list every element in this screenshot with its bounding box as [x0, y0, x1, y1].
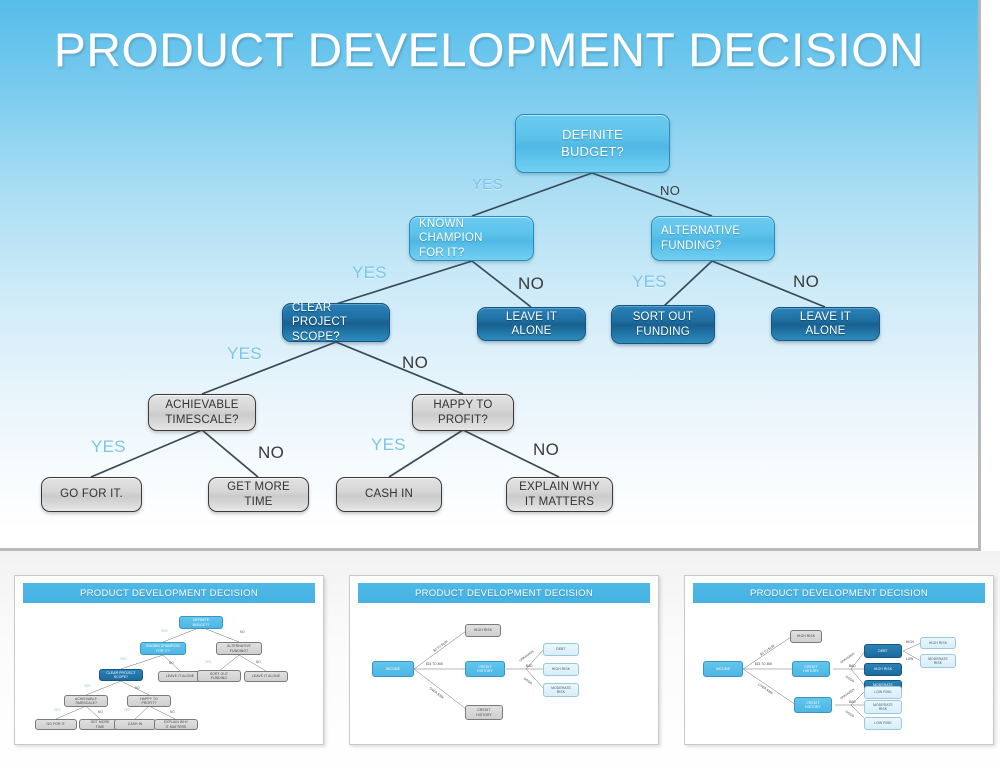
thumbnail-title: PRODUCT DEVELOPMENT DECISION	[750, 588, 928, 599]
thumbnail-strip: PRODUCT DEVELOPMENT DECISION DEFINITE BU…	[0, 551, 1000, 778]
thumbnail-title-bar: PRODUCT DEVELOPMENT DECISION	[23, 583, 315, 603]
thumbnail-slide-1[interactable]: PRODUCT DEVELOPMENT DECISION DEFINITE BU…	[14, 575, 324, 745]
branch-label-root-no: NO	[660, 183, 680, 198]
branch-label-scope-yes: YES	[227, 344, 262, 364]
thumb3-edge-bad-bottom: BAD	[849, 700, 856, 704]
thumb1-node-go-for-it: GO FOR IT.	[35, 719, 77, 730]
thumb1-label-yes-scope: YES	[84, 684, 90, 688]
node-label: ALTERNATIVE FUNDING?	[661, 224, 765, 253]
thumb3-node-debt: DEBT	[864, 644, 902, 658]
thumb3-node-credit-history-mid: CREDIT HISTORY	[792, 661, 830, 677]
thumbnail-title: PRODUCT DEVELOPMENT DECISION	[415, 588, 593, 599]
branch-label-root-yes: YES	[472, 176, 503, 193]
thumb1-node-definite-budget: DEFINITE BUDGET?	[179, 616, 223, 629]
thumb1-label-no-root: NO	[240, 630, 245, 634]
thumb1-node-known-champion: KNOWN CHAMPION FOR IT?	[140, 642, 186, 655]
thumb1-label-no-scope: NO	[135, 686, 140, 690]
thumb3-node-high-risk-far: HIGH RISK	[920, 637, 956, 649]
thumb3-node-high-risk-mid: HIGH RISK	[864, 663, 902, 676]
node-label: GO FOR IT.	[49, 487, 134, 501]
node-leave-it-alone-1[interactable]: LEAVE IT ALONE	[477, 307, 586, 341]
thumb1-label-yes-profit: YES	[124, 708, 130, 712]
node-known-champion[interactable]: KNOWN CHAMPION FOR IT?	[409, 216, 534, 261]
thumb2-node-debt: DEBT	[543, 643, 579, 656]
thumb1-node-cash-in: CASH IN	[114, 719, 156, 730]
node-leave-it-alone-2[interactable]: LEAVE IT ALONE	[771, 307, 880, 341]
thumbnail-slide-2[interactable]: PRODUCT DEVELOPMENT DECISION INCOME HIGH…	[349, 575, 659, 745]
node-achievable-timescale[interactable]: ACHIEVABLE TIMESCALE?	[148, 394, 256, 431]
thumb1-node-clear-project-scope: CLEAR PROJECT SCOPE?	[99, 669, 143, 681]
thumb1-label-yes-champion: YES	[120, 657, 126, 661]
branch-label-scope-no: NO	[402, 353, 428, 373]
branch-label-funding-no: NO	[793, 272, 819, 292]
node-label: DEFINITE BUDGET?	[525, 127, 660, 160]
thumb1-label-no-funding: NO	[256, 660, 261, 664]
thumb1-label-no-timescale: NO	[98, 710, 103, 714]
thumb1-node-leave-it-alone-2: LEAVE IT ALONE	[244, 671, 288, 682]
node-cash-in[interactable]: CASH IN	[336, 477, 442, 512]
node-label: SORT OUT FUNDING	[621, 310, 705, 339]
thumb1-node-happy-to-profit: HAPPY TO PROFIT?	[127, 695, 171, 707]
node-label: GET MORE TIME	[216, 480, 301, 509]
thumb1-node-alternative-funding: ALTERNATIVE FUNDING?	[216, 642, 262, 655]
thumb3-edge-bad-mid: BAD	[849, 664, 856, 668]
thumb2-node-income: INCOME	[372, 661, 414, 677]
thumbnail-canvas: INCOME HIGH RISK CREDIT HISTORY CREDIT H…	[693, 607, 985, 733]
thumb2-edge-bad: BAD	[526, 664, 533, 668]
thumbnail-title-bar: PRODUCT DEVELOPMENT DECISION	[358, 583, 650, 603]
thumb2-node-high-risk-top: HIGH RISK	[465, 624, 501, 637]
thumbnail-canvas: INCOME HIGH RISK CREDIT HISTORY CREDIT H…	[358, 607, 650, 733]
main-slide: PRODUCT DEVELOPMENT DECISION DEFINITE BU…	[0, 0, 981, 551]
thumb3-edge-low: LOW	[906, 657, 913, 661]
node-label: LEAVE IT ALONE	[781, 310, 870, 339]
thumb1-node-explain-why: EXPLAIN WHY IT MATTERS	[154, 719, 198, 730]
node-sort-out-funding[interactable]: SORT OUT FUNDING	[611, 305, 715, 344]
thumb3-edge-high: HIGH	[906, 640, 914, 644]
node-label: EXPLAIN WHY IT MATTERS	[514, 480, 605, 509]
branch-label-champion-no: NO	[518, 274, 544, 294]
thumb1-label-no-profit: NO	[170, 710, 175, 714]
thumb1-node-leave-it-alone-1: LEAVE IT ALONE	[158, 671, 202, 682]
node-clear-project-scope[interactable]: CLEAR PROJECT SCOPE?	[282, 303, 390, 342]
node-label: KNOWN CHAMPION FOR IT?	[419, 217, 524, 260]
thumb2-node-credit-history-mid: CREDIT HISTORY	[465, 661, 505, 677]
thumb1-label-yes-root: YES	[161, 629, 167, 633]
node-label: HAPPY TO PROFIT?	[420, 398, 506, 427]
node-get-more-time[interactable]: GET MORE TIME	[208, 477, 309, 512]
thumbnail-title: PRODUCT DEVELOPMENT DECISION	[80, 588, 258, 599]
thumb2-node-credit-history-bottom: CREDIT HISTORY	[465, 705, 503, 720]
thumb2-node-moderate-risk: MODERATE RISK	[543, 683, 579, 697]
thumb3-node-credit-history-bottom: CREDIT HISTORY	[794, 697, 832, 713]
thumb1-node-sort-out-funding: SORT OUT FUNDING	[197, 670, 241, 682]
thumb3-edge-income-mid: $15 TO 36K	[755, 662, 772, 666]
thumb1-label-no-champion: NO	[169, 661, 174, 665]
thumb3-node-low-risk-bottom: LOW RISK	[864, 717, 902, 730]
node-label: LEAVE IT ALONE	[487, 310, 576, 339]
thumb3-node-moderate-risk-low: MODERATE RISK	[864, 700, 902, 714]
tree-connector-lines	[0, 0, 978, 548]
branch-label-timescale-yes: YES	[91, 437, 126, 457]
thumb1-node-achievable-timescale: ACHIEVABLE TIMESCALE?	[64, 695, 108, 707]
thumb2-node-high-risk-right: HIGH RISK	[543, 663, 579, 676]
thumb1-label-yes-timescale: YES	[54, 708, 60, 712]
thumb3-node-high-risk-top: HIGH RISK	[790, 630, 822, 643]
branch-label-profit-no: NO	[533, 440, 559, 460]
thumb3-node-low-risk-1: LOW RISK	[864, 686, 902, 699]
thumbnail-slide-3[interactable]: PRODUCT DEVELOPMENT DECISION	[684, 575, 994, 745]
branch-label-funding-yes: YES	[632, 272, 667, 292]
node-happy-to-profit[interactable]: HAPPY TO PROFIT?	[412, 394, 514, 431]
thumb1-label-yes-funding: YES	[205, 660, 211, 664]
thumbnail-title-bar: PRODUCT DEVELOPMENT DECISION	[693, 583, 985, 603]
branch-label-timescale-no: NO	[258, 443, 284, 463]
branch-label-profit-yes: YES	[371, 435, 406, 455]
thumbnail-canvas: DEFINITE BUDGET? KNOWN CHAMPION FOR IT? …	[23, 607, 315, 733]
node-go-for-it[interactable]: GO FOR IT.	[41, 477, 142, 512]
thumb3-node-income: INCOME	[703, 661, 743, 677]
node-label: CASH IN	[344, 487, 434, 501]
node-explain-why-it-matters[interactable]: EXPLAIN WHY IT MATTERS	[506, 477, 613, 512]
branch-label-champion-yes: YES	[352, 263, 387, 283]
node-alternative-funding[interactable]: ALTERNATIVE FUNDING?	[651, 216, 775, 261]
thumb2-edge-income-mid: $15 TO 36K	[426, 662, 443, 666]
thumb3-node-moderate-risk-far: MODERATE RISK	[920, 654, 956, 668]
node-label: CLEAR PROJECT SCOPE?	[292, 301, 380, 344]
node-definite-budget[interactable]: DEFINITE BUDGET?	[515, 114, 670, 173]
node-label: ACHIEVABLE TIMESCALE?	[156, 398, 248, 427]
